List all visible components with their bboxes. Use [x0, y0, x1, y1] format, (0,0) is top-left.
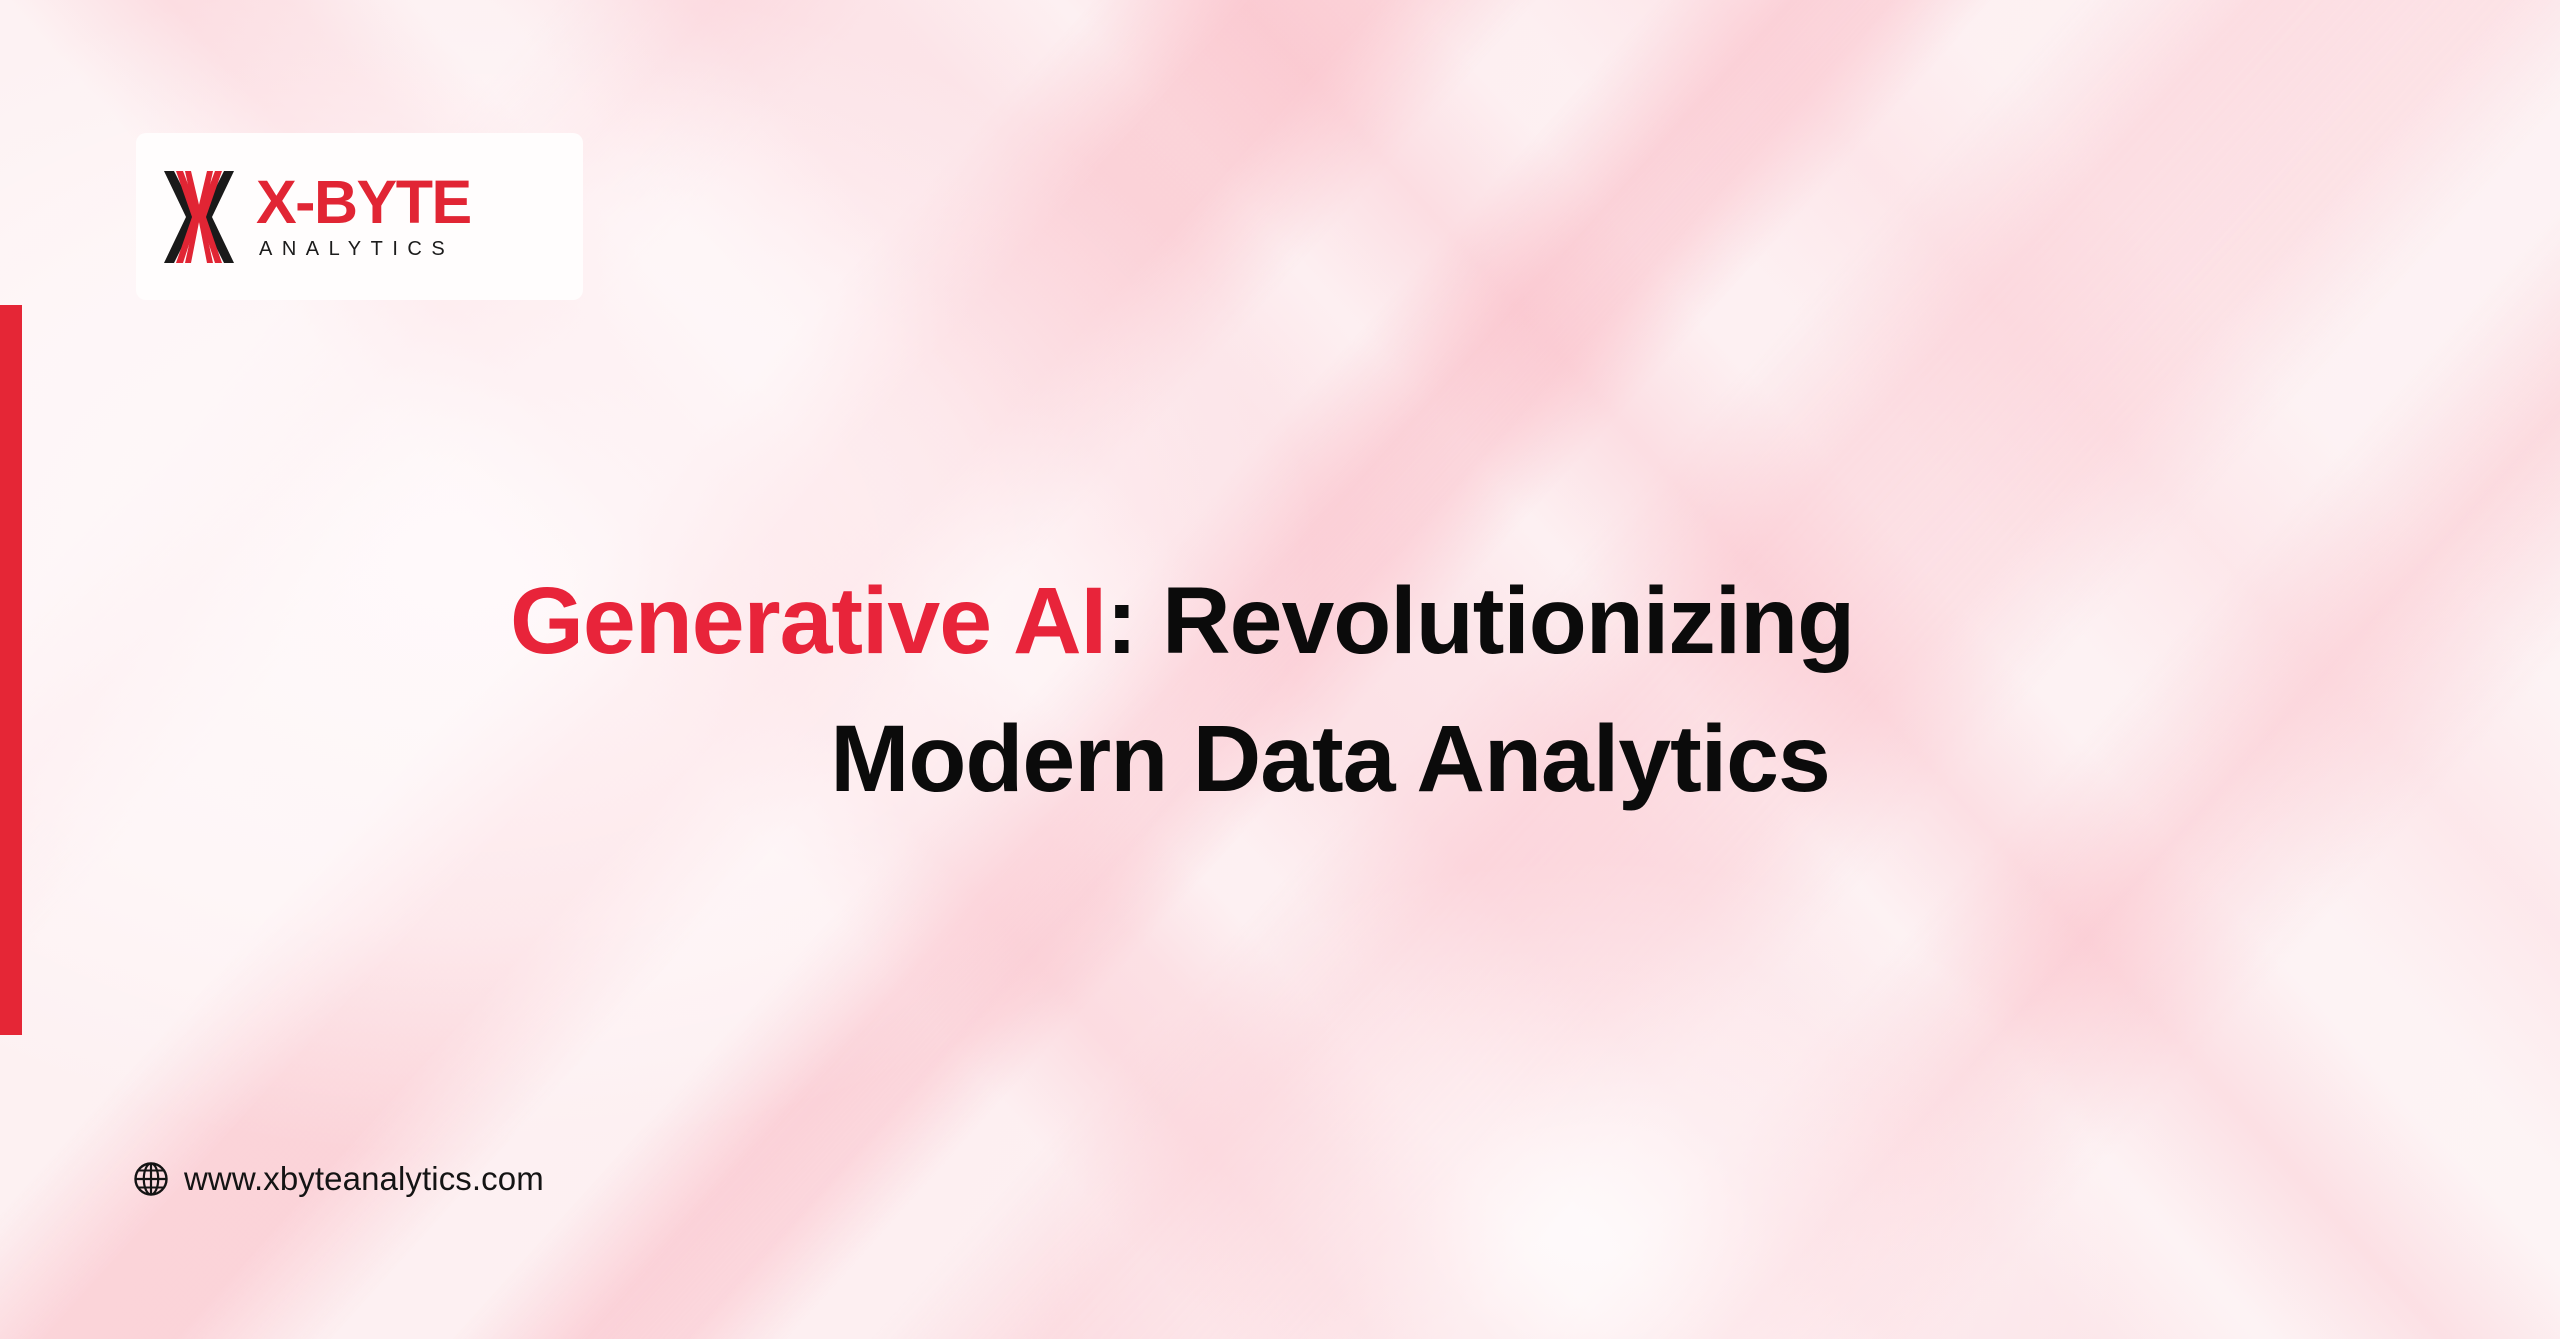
left-accent-bar — [0, 305, 22, 1035]
logo-subtitle: ANALYTICS — [256, 238, 471, 261]
page-title: Generative AI: Revolutionizing Modern Da… — [510, 553, 2270, 829]
headline-line-1: Generative AI: Revolutionizing — [510, 553, 2270, 691]
x-byte-hourglass-mark-icon — [162, 167, 236, 267]
logo-text-block: X-BYTE ANALYTICS — [256, 172, 471, 260]
banner-root: X-BYTE ANALYTICS Generative AI: Revoluti… — [0, 0, 2560, 1339]
headline-accent-text: Generative AI — [510, 568, 1106, 674]
website-url[interactable]: www.xbyteanalytics.com — [133, 1160, 544, 1198]
headline-line-2: Modern Data Analytics — [510, 691, 2270, 829]
website-url-text: www.xbyteanalytics.com — [184, 1160, 544, 1198]
headline-line-1-rest: : Revolutionizing — [1106, 568, 1854, 674]
logo-card: X-BYTE ANALYTICS — [136, 133, 583, 300]
globe-icon — [133, 1161, 169, 1197]
logo-wordmark: X-BYTE — [256, 174, 471, 230]
